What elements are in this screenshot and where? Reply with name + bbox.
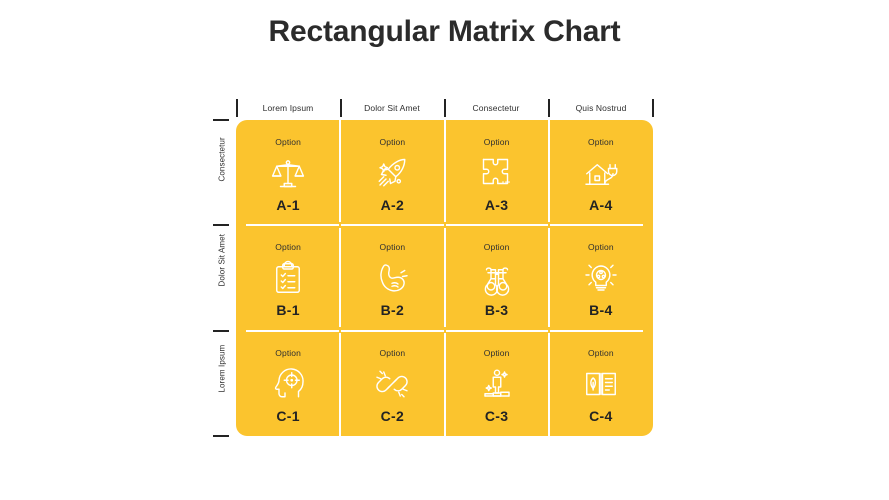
lightbulb-idea-icon <box>582 259 620 297</box>
cell-code: C-2 <box>381 408 404 424</box>
cell-code: B-4 <box>589 302 612 318</box>
house-plug-icon <box>582 154 620 192</box>
row-header-2: Lorem Ipsum <box>213 331 231 436</box>
column-header-1: Dolor Sit Amet <box>340 99 444 117</box>
cell-option-label: Option <box>588 242 614 252</box>
cell-option-label: Option <box>380 348 406 358</box>
matrix-cell-a2[interactable]: Option A-2 <box>340 120 444 225</box>
cell-code: A-3 <box>485 197 508 213</box>
matrix-grid: Option A-1 Option <box>236 120 653 436</box>
balance-scales-icon <box>269 154 307 192</box>
page-title: Rectangular Matrix Chart <box>0 14 889 50</box>
cell-code: C-4 <box>589 408 612 424</box>
separator-gap <box>339 222 341 228</box>
cell-option-label: Option <box>380 137 406 147</box>
separator-gap <box>548 222 550 228</box>
matrix-chart-page: Rectangular Matrix Chart Lorem Ipsum Dol… <box>0 0 889 500</box>
matrix-cell-b4[interactable]: Option B-4 <box>549 225 653 330</box>
cell-option-label: Option <box>588 137 614 147</box>
separator-gap <box>339 327 341 333</box>
separator-gap <box>444 222 446 228</box>
flexed-bicep-icon <box>373 259 411 297</box>
column-header-2: Consectetur <box>444 99 548 117</box>
cell-code: C-3 <box>485 408 508 424</box>
matrix-cell-b2[interactable]: Option B-2 <box>340 225 444 330</box>
column-header-3: Quis Nostrud <box>549 99 653 117</box>
column-header-strip: Lorem Ipsum Dolor Sit Amet Consectetur Q… <box>236 99 653 117</box>
broken-chain-icon <box>373 365 411 403</box>
matrix-cell-a1[interactable]: Option A-1 <box>236 120 340 225</box>
column-separator-3 <box>548 120 550 436</box>
matrix-cell-b3[interactable]: Option B-3 <box>445 225 549 330</box>
cell-code: B-2 <box>381 302 404 318</box>
cell-option-label: Option <box>380 242 406 252</box>
puzzle-pieces-icon <box>478 154 516 192</box>
cell-code: C-1 <box>276 408 299 424</box>
cell-code: A-4 <box>589 197 612 213</box>
matrix-cell-c1[interactable]: Option C-1 <box>236 331 340 436</box>
column-separator-1 <box>339 120 341 436</box>
cell-option-label: Option <box>484 137 510 147</box>
matrix-cell-c2[interactable]: Option C-2 <box>340 331 444 436</box>
separator-gap <box>548 327 550 333</box>
cell-option-label: Option <box>275 137 301 147</box>
rocket-launch-icon <box>373 154 411 192</box>
open-book-leaf-icon <box>582 365 620 403</box>
cell-option-label: Option <box>275 242 301 252</box>
binoculars-icon <box>478 259 516 297</box>
person-podium-icon <box>478 365 516 403</box>
cell-code: A-2 <box>381 197 404 213</box>
row-header-0: Consectetur <box>213 120 231 225</box>
cell-option-label: Option <box>484 348 510 358</box>
cell-code: B-1 <box>276 302 299 318</box>
cell-code: A-1 <box>276 197 299 213</box>
matrix-cell-c3[interactable]: Option C-3 <box>445 331 549 436</box>
head-target-icon <box>269 365 307 403</box>
clipboard-checklist-icon <box>269 259 307 297</box>
column-header-0: Lorem Ipsum <box>236 99 340 117</box>
matrix-cell-b1[interactable]: Option B-1 <box>236 225 340 330</box>
cell-option-label: Option <box>484 242 510 252</box>
matrix-cell-a3[interactable]: Option A-3 <box>445 120 549 225</box>
cell-option-label: Option <box>275 348 301 358</box>
row-header-1: Dolor Sit Amet <box>213 225 231 330</box>
matrix-cell-a4[interactable]: Option A-4 <box>549 120 653 225</box>
cell-code: B-3 <box>485 302 508 318</box>
matrix-cell-c4[interactable]: Option C-4 <box>549 331 653 436</box>
column-separator-2 <box>444 120 446 436</box>
cell-option-label: Option <box>588 348 614 358</box>
separator-gap <box>444 327 446 333</box>
